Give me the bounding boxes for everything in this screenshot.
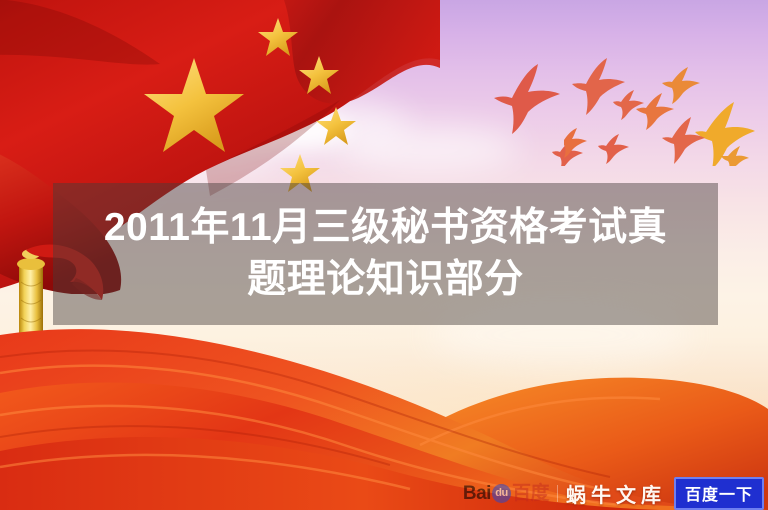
- watermark-bar: Bai du 百度 蜗牛文库 百度一下: [463, 476, 768, 510]
- baidu-paw-icon: du: [492, 484, 511, 503]
- watermark-divider: [557, 485, 558, 502]
- site-brand-name: 蜗牛文库: [566, 479, 666, 508]
- title-line-1: 2011年11月三级秘书资格考试真: [104, 202, 667, 254]
- baidu-search-button[interactable]: 百度一下: [674, 477, 764, 510]
- baidu-latin-text: Bai: [463, 484, 491, 503]
- baidu-chinese-text: 百度: [512, 484, 549, 503]
- title-overlay-band: 2011年11月三级秘书资格考试真 题理论知识部分: [53, 183, 718, 325]
- baidu-logo: Bai du 百度: [463, 484, 549, 503]
- flying-birds: [494, 46, 768, 166]
- title-line-2: 题理论知识部分: [247, 254, 524, 306]
- banner-image: 2011年11月三级秘书资格考试真 题理论知识部分 Bai du 百度 蜗牛文库…: [0, 0, 768, 510]
